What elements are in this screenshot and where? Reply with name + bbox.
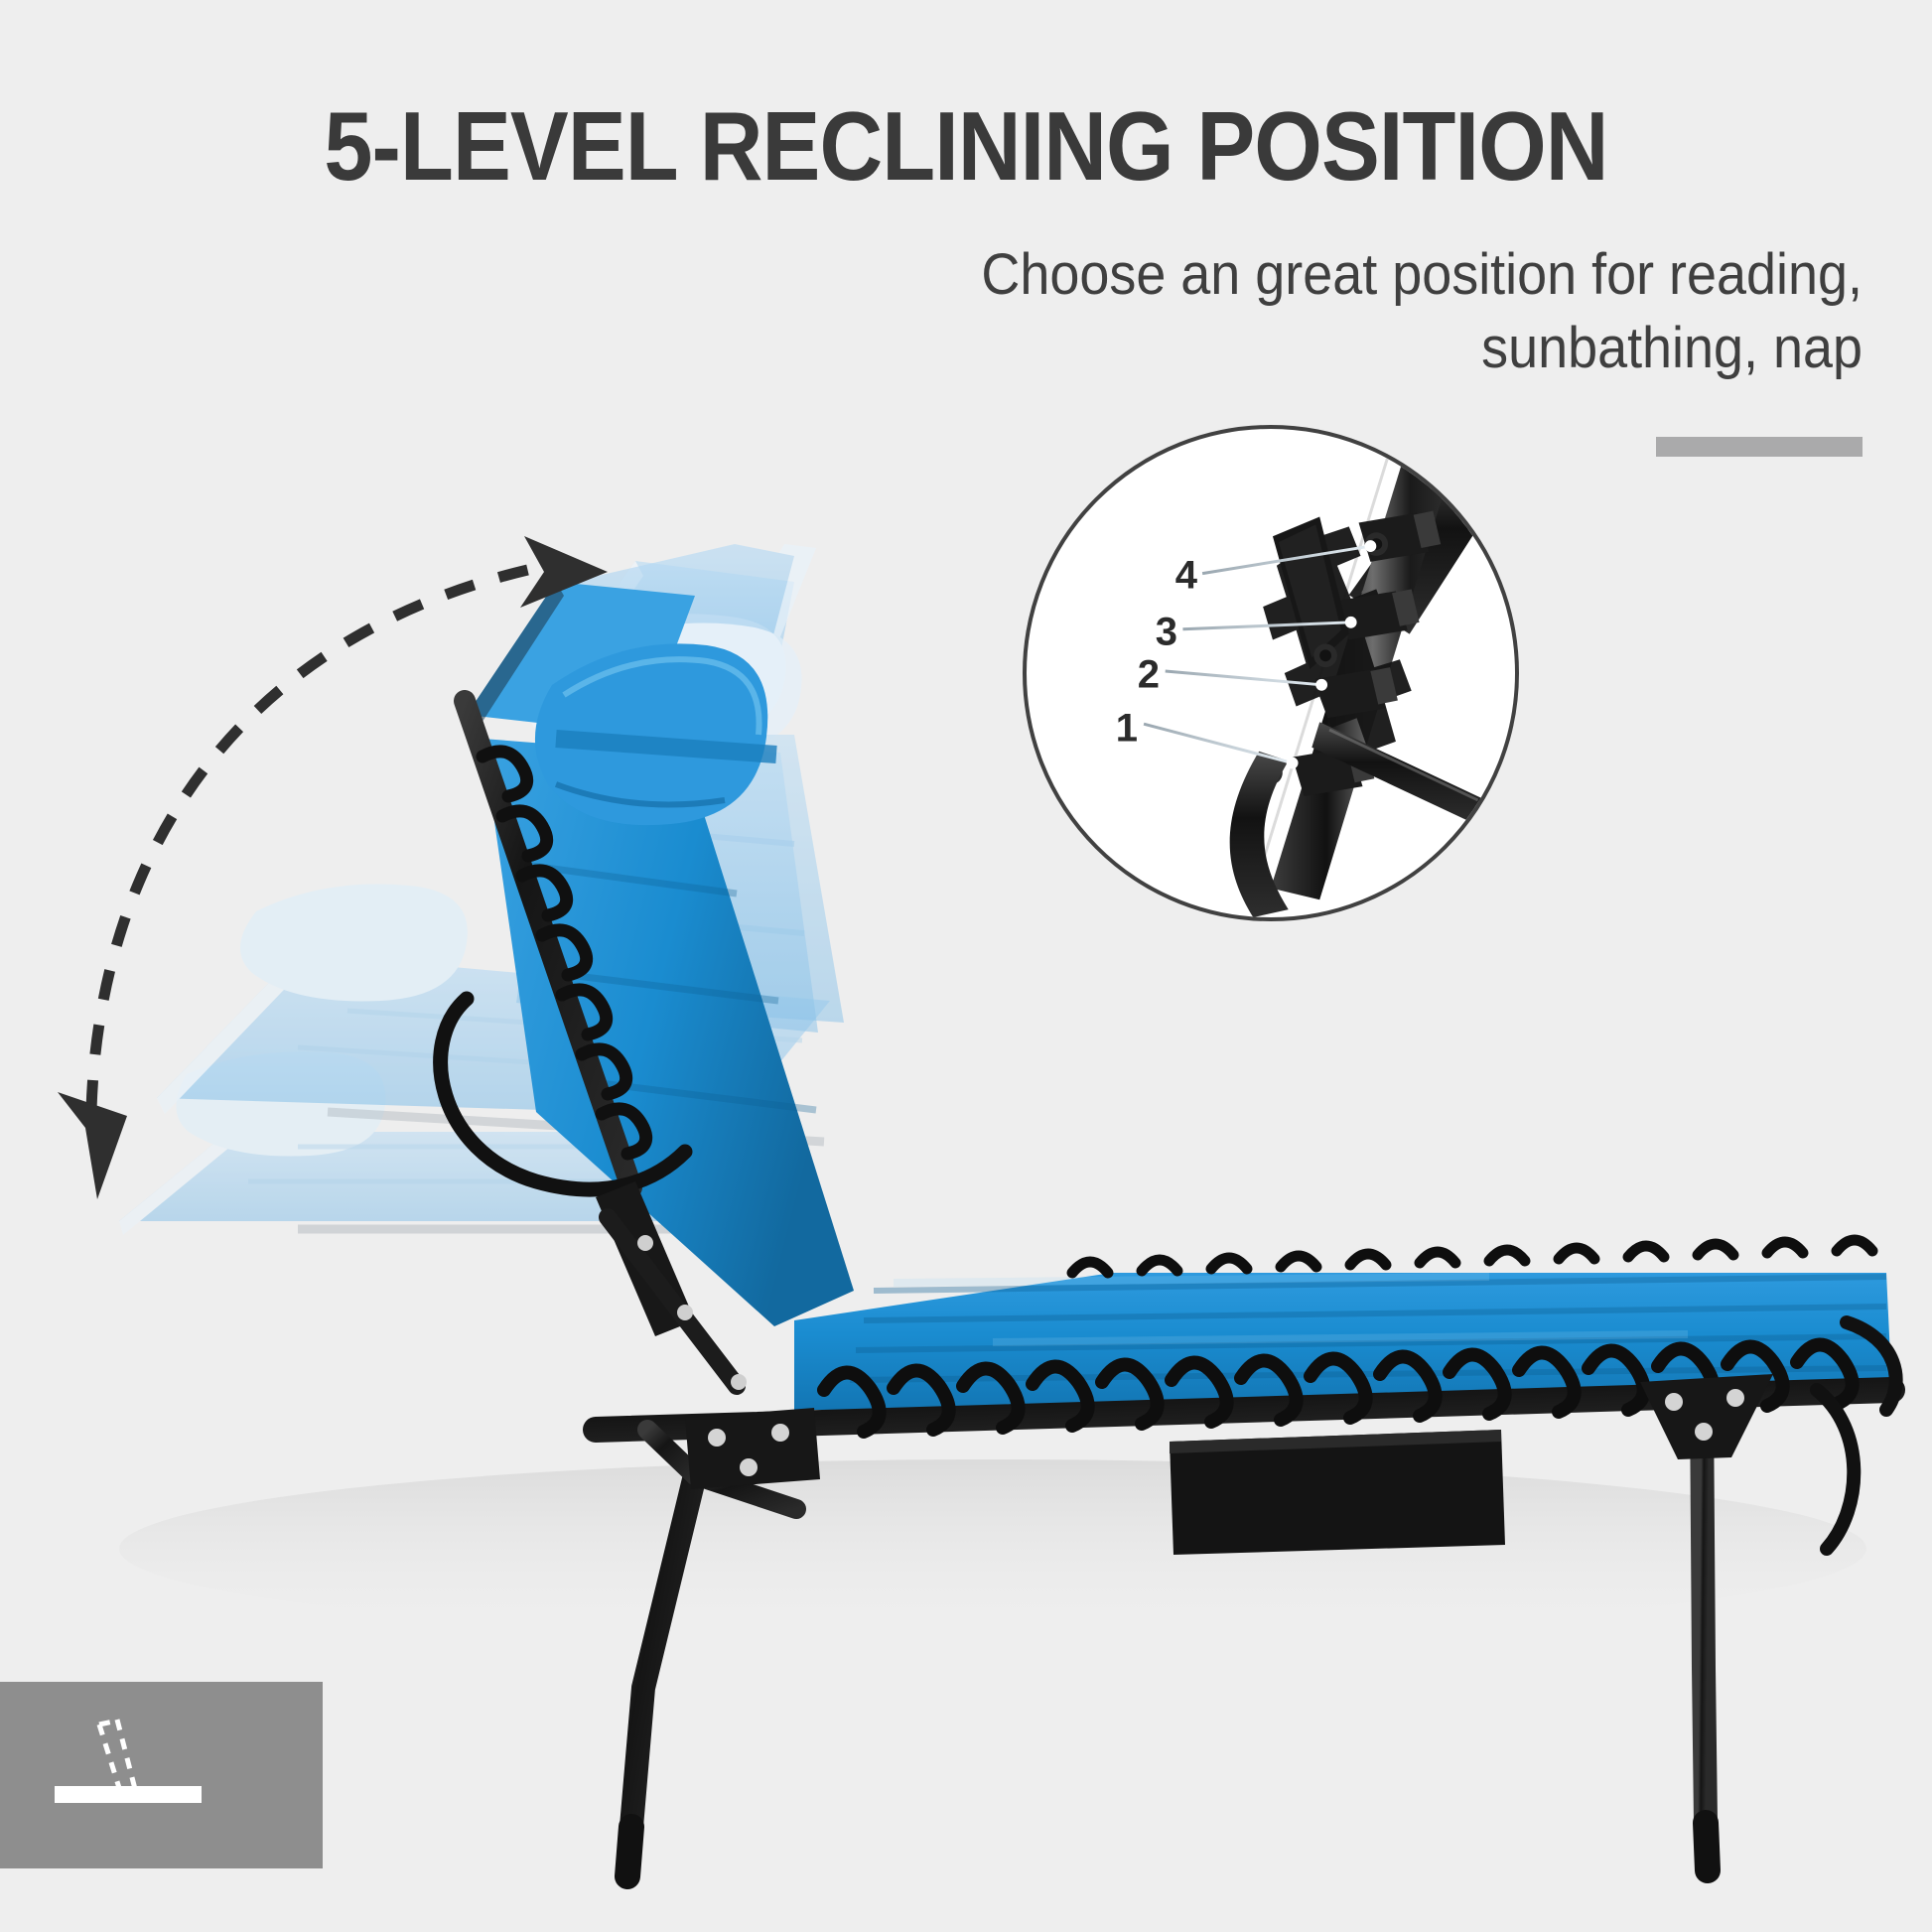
rear-leg-right bbox=[1702, 1400, 1708, 1870]
callout-label-2: 2 bbox=[1138, 653, 1160, 698]
leg-bracket-right bbox=[1640, 1374, 1773, 1459]
callout-label-3: 3 bbox=[1156, 611, 1177, 655]
leg-bracket-left bbox=[685, 1408, 820, 1489]
badge-base-bar bbox=[55, 1786, 202, 1803]
product-scene bbox=[0, 0, 1932, 1932]
product-illustration bbox=[0, 0, 1932, 1932]
inset-mechanism-illustration bbox=[1027, 429, 1515, 917]
recline-mechanism-inset: 4 3 2 1 bbox=[1023, 425, 1519, 921]
recline-angle-badge bbox=[0, 1682, 323, 1868]
callout-label-1: 1 bbox=[1116, 707, 1138, 752]
arrow-head-bottom bbox=[58, 1092, 127, 1199]
badge-dashed-backrest bbox=[99, 1720, 135, 1791]
callout-label-4: 4 bbox=[1175, 554, 1197, 599]
inset-circle-frame: 4 3 2 1 bbox=[1023, 425, 1519, 921]
recline-angle-icon bbox=[0, 1682, 323, 1868]
side-pocket bbox=[1170, 1430, 1505, 1555]
